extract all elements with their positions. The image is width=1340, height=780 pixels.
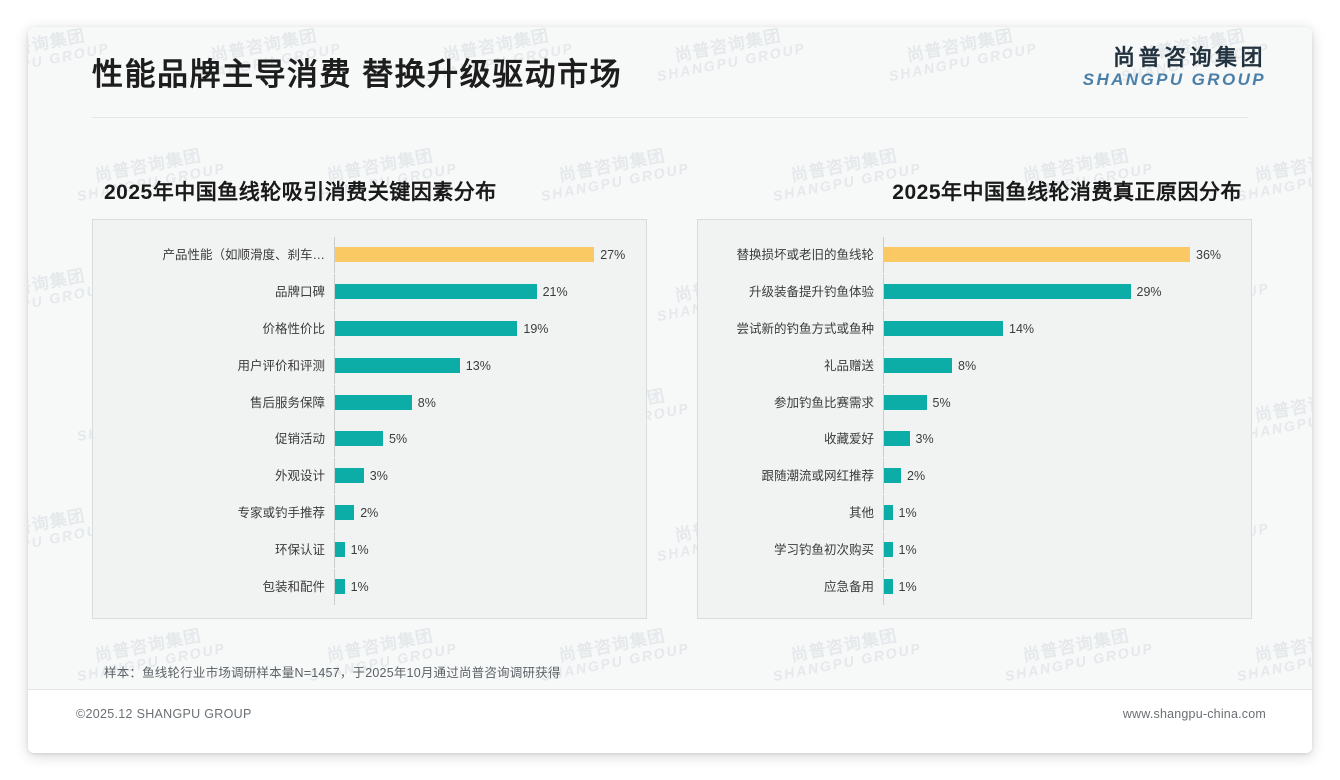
bar-category-label: 促销活动 <box>93 430 334 448</box>
bar-track: 14% <box>884 320 1251 338</box>
chart-bar-row: 包装和配件1% <box>93 578 646 596</box>
chart-bar-row: 环保认证1% <box>93 541 646 559</box>
website-link[interactable]: www.shangpu-china.com <box>1123 707 1266 721</box>
chart-bar <box>884 247 1190 262</box>
watermark-tile: 尚普咨询集团SHANGPU GROUP <box>1000 623 1155 684</box>
bar-track: 8% <box>884 357 1251 375</box>
chart-bar-row: 价格性价比19% <box>93 320 646 338</box>
bar-value-label: 5% <box>933 394 951 412</box>
bar-value-label: 29% <box>1137 283 1162 301</box>
chart-bar <box>335 395 412 410</box>
bar-track: 2% <box>335 504 646 522</box>
bar-category-label: 品牌口碑 <box>93 283 334 301</box>
header-divider <box>92 117 1248 118</box>
bar-value-label: 27% <box>600 246 625 264</box>
chart-bar-row: 其他1% <box>698 504 1251 522</box>
bar-value-label: 1% <box>351 578 369 596</box>
bar-category-label: 学习钓鱼初次购买 <box>698 541 883 559</box>
bar-value-label: 5% <box>389 430 407 448</box>
bar-track: 1% <box>335 578 646 596</box>
bar-category-label: 包装和配件 <box>93 578 334 596</box>
bar-category-label: 外观设计 <box>93 467 334 485</box>
chart-bar-row: 参加钓鱼比赛需求5% <box>698 394 1251 412</box>
chart-title-right: 2025年中国鱼线轮消费真正原因分布 <box>697 167 1252 219</box>
company-logo: 尚普咨询集团 SHANGPU GROUP <box>1083 45 1266 90</box>
logo-english-text: SHANGPU GROUP <box>1083 70 1266 90</box>
bar-value-label: 1% <box>899 578 917 596</box>
bar-value-label: 2% <box>360 504 378 522</box>
bar-category-label: 其他 <box>698 504 883 522</box>
chart-bar-row: 升级装备提升钓鱼体验29% <box>698 283 1251 301</box>
chart-bar-row: 专家或钓手推荐2% <box>93 504 646 522</box>
slide-canvas: 尚普咨询集团SHANGPU GROUP尚普咨询集团SHANGPU GROUP尚普… <box>28 27 1312 753</box>
chart-bar-row: 品牌口碑21% <box>93 283 646 301</box>
bar-value-label: 1% <box>899 541 917 559</box>
bar-category-label: 参加钓鱼比赛需求 <box>698 394 883 412</box>
chart-bar <box>335 358 460 373</box>
chart-bar <box>335 505 354 520</box>
bar-category-label: 用户评价和评测 <box>93 357 334 375</box>
bar-category-label: 尝试新的钓鱼方式或鱼种 <box>698 320 883 338</box>
chart-bar <box>335 247 594 262</box>
chart-bar-row: 收藏爱好3% <box>698 430 1251 448</box>
bar-track: 1% <box>884 504 1251 522</box>
chart-area-right: 替换损坏或老旧的鱼线轮36%升级装备提升钓鱼体验29%尝试新的钓鱼方式或鱼种14… <box>697 219 1252 619</box>
chart-bar-row: 产品性能（如顺滑度、刹车…27% <box>93 246 646 264</box>
chart-bar-row: 学习钓鱼初次购买1% <box>698 541 1251 559</box>
bar-category-label: 产品性能（如顺滑度、刹车… <box>93 246 334 264</box>
chart-panel-left: 2025年中国鱼线轮吸引消费关键因素分布 产品性能（如顺滑度、刹车…27%品牌口… <box>92 167 647 619</box>
bar-category-label: 收藏爱好 <box>698 430 883 448</box>
bar-track: 1% <box>335 541 646 559</box>
bar-track: 27% <box>335 246 646 264</box>
chart-bar-row: 跟随潮流或网红推荐2% <box>698 467 1251 485</box>
bar-value-label: 2% <box>907 467 925 485</box>
bar-value-label: 8% <box>958 357 976 375</box>
chart-bar <box>884 579 893 594</box>
chart-bar <box>884 505 893 520</box>
bar-category-label: 专家或钓手推荐 <box>93 504 334 522</box>
bar-value-label: 1% <box>351 541 369 559</box>
bar-track: 3% <box>884 430 1251 448</box>
bar-value-label: 14% <box>1009 320 1034 338</box>
source-footnote: 样本：鱼线轮行业市场调研样本量N=1457，于2025年10月通过尚普咨询调研获… <box>104 662 561 681</box>
bar-track: 29% <box>884 283 1251 301</box>
chart-bar <box>884 468 901 483</box>
bar-track: 36% <box>884 246 1251 264</box>
chart-bar-row: 用户评价和评测13% <box>93 357 646 375</box>
chart-bar <box>884 431 910 446</box>
bar-track: 2% <box>884 467 1251 485</box>
chart-area-left: 产品性能（如顺滑度、刹车…27%品牌口碑21%价格性价比19%用户评价和评测13… <box>92 219 647 619</box>
bar-value-label: 21% <box>543 283 568 301</box>
bar-value-label: 3% <box>916 430 934 448</box>
slide-header: 性能品牌主导消费 替换升级驱动市场 尚普咨询集团 SHANGPU GROUP <box>28 27 1312 118</box>
chart-bar <box>335 579 345 594</box>
bar-category-label: 礼品赠送 <box>698 357 883 375</box>
chart-bar-row: 应急备用1% <box>698 578 1251 596</box>
bar-value-label: 13% <box>466 357 491 375</box>
bar-track: 5% <box>335 430 646 448</box>
chart-bar <box>884 542 893 557</box>
chart-bar <box>884 358 952 373</box>
bar-category-label: 应急备用 <box>698 578 883 596</box>
bar-track: 1% <box>884 578 1251 596</box>
chart-bar <box>335 321 517 336</box>
bar-track: 13% <box>335 357 646 375</box>
watermark-tile: 尚普咨询集团SHANGPU GROUP <box>1232 623 1312 684</box>
chart-bar-row: 礼品赠送8% <box>698 357 1251 375</box>
bar-value-label: 36% <box>1196 246 1221 264</box>
chart-bar-row: 售后服务保障8% <box>93 394 646 412</box>
chart-title-left: 2025年中国鱼线轮吸引消费关键因素分布 <box>92 167 647 219</box>
bar-track: 8% <box>335 394 646 412</box>
bar-value-label: 1% <box>899 504 917 522</box>
chart-bar <box>884 395 927 410</box>
bar-track: 3% <box>335 467 646 485</box>
bar-value-label: 8% <box>418 394 436 412</box>
bar-value-label: 19% <box>523 320 548 338</box>
chart-bar <box>335 431 383 446</box>
watermark-tile: 尚普咨询集团SHANGPU GROUP <box>768 623 923 684</box>
bar-track: 5% <box>884 394 1251 412</box>
chart-bar-row: 促销活动5% <box>93 430 646 448</box>
logo-chinese-text: 尚普咨询集团 <box>1083 45 1266 70</box>
chart-bar-row: 外观设计3% <box>93 467 646 485</box>
bar-category-label: 替换损坏或老旧的鱼线轮 <box>698 246 883 264</box>
chart-bar <box>335 284 537 299</box>
chart-bar <box>335 468 364 483</box>
bar-category-label: 跟随潮流或网红推荐 <box>698 467 883 485</box>
chart-bar <box>884 284 1131 299</box>
bar-category-label: 价格性价比 <box>93 320 334 338</box>
bar-category-label: 环保认证 <box>93 541 334 559</box>
chart-bar-row: 替换损坏或老旧的鱼线轮36% <box>698 246 1251 264</box>
bar-track: 1% <box>884 541 1251 559</box>
slide-footer: ©2025.12 SHANGPU GROUP www.shangpu-china… <box>28 690 1312 753</box>
bar-category-label: 售后服务保障 <box>93 394 334 412</box>
chart-panel-right: 2025年中国鱼线轮消费真正原因分布 替换损坏或老旧的鱼线轮36%升级装备提升钓… <box>697 167 1252 619</box>
bar-category-label: 升级装备提升钓鱼体验 <box>698 283 883 301</box>
page-title: 性能品牌主导消费 替换升级驱动市场 <box>92 49 622 94</box>
chart-bar <box>884 321 1003 336</box>
chart-bar <box>335 542 345 557</box>
bar-value-label: 3% <box>370 467 388 485</box>
bar-track: 19% <box>335 320 646 338</box>
bar-track: 21% <box>335 283 646 301</box>
copyright-text: ©2025.12 SHANGPU GROUP <box>76 707 252 721</box>
chart-bar-row: 尝试新的钓鱼方式或鱼种14% <box>698 320 1251 338</box>
